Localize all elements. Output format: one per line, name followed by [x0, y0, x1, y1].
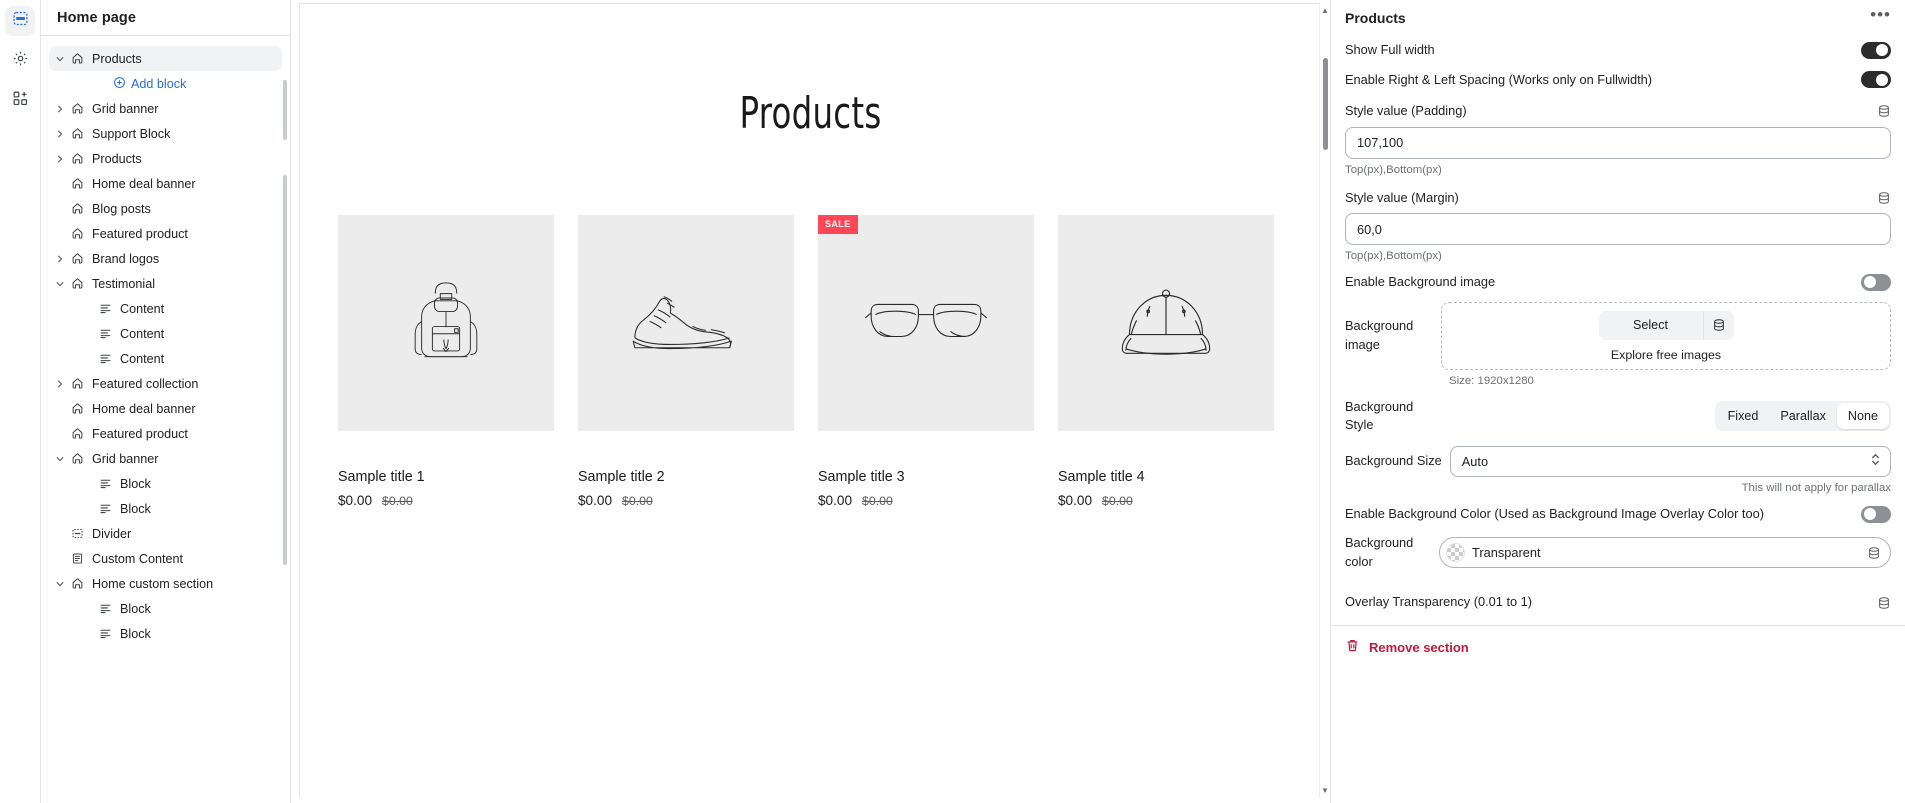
section-icon — [68, 52, 86, 65]
background-size-select[interactable]: Auto — [1450, 446, 1891, 477]
section-icon — [68, 452, 86, 465]
product-price: $0.00 — [338, 493, 372, 508]
sidebar-item-home-deal-banner[interactable]: Home deal banner — [49, 171, 282, 196]
background-style-option-parallax[interactable]: Parallax — [1769, 403, 1837, 429]
sidebar-item-label: Block — [120, 502, 151, 516]
product-price: $0.00 — [578, 493, 612, 508]
sidebar-item-label: Home deal banner — [92, 177, 196, 191]
chevron-down-icon[interactable] — [52, 51, 68, 67]
background-style-segmented-control[interactable]: FixedParallaxNone — [1715, 401, 1891, 431]
enable-bg-image-toggle[interactable] — [1861, 274, 1891, 291]
inspector-title: Products — [1345, 10, 1406, 26]
clipped-row — [41, 36, 290, 44]
sneaker-illustration — [611, 248, 761, 398]
background-size-row: Background Size Auto — [1345, 446, 1891, 477]
enable-bg-color-label: Enable Background Color (Used as Backgro… — [1345, 505, 1764, 524]
enable-bg-color-row: Enable Background Color (Used as Backgro… — [1345, 505, 1891, 524]
section-icon — [68, 277, 86, 290]
sidebar-item-label: Divider — [92, 527, 131, 541]
padding-label: Style value (Padding) — [1345, 102, 1467, 121]
divider-icon — [68, 527, 86, 540]
enable-bg-image-row: Enable Background image — [1345, 273, 1891, 292]
sidebar-item-label: Block — [120, 477, 151, 491]
block-icon — [96, 477, 114, 490]
background-image-size-hint: Size: 1920x1280 — [1345, 375, 1891, 387]
section-icon — [68, 177, 86, 190]
overlay-transparency-row: Overlay Transparency (0.01 to 1) — [1345, 593, 1891, 612]
sidebar-item-label: Grid banner — [92, 452, 159, 466]
product-compare-price: $0.00 — [1102, 494, 1133, 508]
margin-hint: Top(px),Bottom(px) — [1345, 250, 1891, 262]
settings-gear-icon — [12, 50, 29, 72]
background-style-label: Background Style — [1345, 398, 1431, 435]
sidebar-item-block[interactable]: Block — [49, 621, 282, 646]
show-full-width-toggle[interactable] — [1861, 42, 1891, 59]
sections-icon — [12, 10, 29, 32]
sidebar-item-divider[interactable]: Divider — [49, 521, 282, 546]
background-style-row: Background Style FixedParallaxNone — [1345, 398, 1891, 435]
sidebar-item-label: Content — [120, 327, 164, 341]
right-left-spacing-label: Enable Right & Left Spacing (Works only … — [1345, 71, 1652, 90]
preview-scrollbar-thumb[interactable] — [1323, 58, 1328, 150]
dynamic-source-icon[interactable] — [1867, 546, 1881, 560]
product-card[interactable]: Sample title 4$0.00$0.00 — [1058, 215, 1274, 508]
sidebar-item-label: Custom Content — [92, 552, 183, 566]
preview-section-heading: Products — [392, 88, 1229, 139]
sidebar-item-label: Support Block — [92, 127, 170, 141]
product-compare-price: $0.00 — [862, 494, 893, 508]
remove-section-label: Remove section — [1369, 640, 1469, 655]
sidebar-scrollbar-thumb[interactable] — [283, 175, 287, 565]
scroll-up-arrow[interactable]: ▲ — [1321, 6, 1329, 15]
select-image-button[interactable]: Select — [1599, 311, 1734, 340]
select-image-label: Select — [1599, 318, 1703, 332]
scroll-down-arrow[interactable]: ▼ — [1321, 786, 1329, 795]
padding-input[interactable]: 107,100 — [1345, 127, 1891, 159]
margin-label: Style value (Margin) — [1345, 189, 1459, 208]
add-block-label: Add block — [131, 77, 186, 91]
background-style-option-fixed[interactable]: Fixed — [1717, 403, 1770, 429]
margin-field-header: Style value (Margin) — [1345, 189, 1891, 208]
right-left-spacing-row: Enable Right & Left Spacing (Works only … — [1345, 71, 1891, 90]
sections-tree: ProductsAdd blockGrid bannerSupport Bloc… — [41, 44, 290, 646]
product-title[interactable]: Sample title 1 — [338, 469, 554, 485]
inspector-header: Products ••• — [1345, 0, 1891, 30]
sidebar-item-brand-logos[interactable]: Brand logos — [49, 246, 282, 271]
background-style-option-none[interactable]: None — [1837, 403, 1889, 429]
product-compare-price: $0.00 — [382, 494, 413, 508]
section-icon — [68, 402, 86, 415]
sidebar-item-custom-content[interactable]: Custom Content — [49, 546, 282, 571]
product-card[interactable]: Sample title 2$0.00$0.00 — [578, 215, 794, 508]
section-icon — [68, 377, 86, 390]
sidebar-item-label: Featured collection — [92, 377, 198, 391]
sidebar-item-label: Brand logos — [92, 252, 159, 266]
padding-input-value: 107,100 — [1357, 135, 1403, 150]
preview-area: Products Sample title 1$0.00$0.00Sample … — [291, 0, 1330, 803]
trash-icon — [1345, 638, 1360, 656]
product-grid: Sample title 1$0.00$0.00Sample title 2$0… — [300, 215, 1321, 508]
apps-add-icon — [12, 90, 29, 112]
section-icon — [68, 152, 86, 165]
sidebar-item-grid-banner[interactable]: Grid banner — [49, 446, 282, 471]
sidebar-item-label: Featured product — [92, 227, 188, 241]
theme-editor: Home page ProductsAdd blockGrid bannerSu… — [0, 0, 1905, 803]
sidebar-item-label: Home custom section — [92, 577, 213, 591]
add-block-button[interactable]: Add block — [113, 71, 290, 96]
overlay-transparency-label: Overlay Transparency (0.01 to 1) — [1345, 593, 1532, 612]
sidebar-item-featured-product[interactable]: Featured product — [49, 221, 282, 246]
background-image-label: Background image — [1345, 317, 1431, 354]
settings-gear-icon-button[interactable] — [5, 46, 35, 76]
sidebar-item-content[interactable]: Content — [49, 321, 282, 346]
sidebar-item-label: Products — [92, 52, 142, 66]
padding-field-header: Style value (Padding) — [1345, 102, 1891, 121]
chevron-right-icon[interactable] — [52, 251, 68, 267]
chevron-right-icon[interactable] — [52, 376, 68, 392]
sidebar-item-testimonial[interactable]: Testimonial — [49, 271, 282, 296]
section-icon — [68, 252, 86, 265]
sidebar-item-block[interactable]: Block — [49, 596, 282, 621]
sidebar-item-label: Block — [120, 627, 151, 641]
sidebar-item-blog-posts[interactable]: Blog posts — [49, 196, 282, 221]
transparent-swatch-icon — [1446, 543, 1465, 562]
dynamic-source-icon[interactable] — [1704, 318, 1734, 332]
remove-section-button[interactable]: Remove section — [1345, 638, 1891, 656]
product-price: $0.00 — [1058, 493, 1092, 508]
sidebar-item-products[interactable]: Products — [49, 146, 282, 171]
glasses-illustration — [851, 248, 1001, 398]
sections-icon-button[interactable] — [5, 6, 35, 36]
section-icon — [68, 127, 86, 140]
divider — [1331, 625, 1905, 626]
chevron-updown-icon — [1870, 452, 1881, 470]
sidebar-item-products[interactable]: Products — [49, 46, 282, 71]
sidebar-item-label: Content — [120, 352, 164, 366]
product-title[interactable]: Sample title 2 — [578, 469, 794, 485]
sidebar-item-featured-collection[interactable]: Featured collection — [49, 371, 282, 396]
product-price: $0.00 — [818, 493, 852, 508]
left-icon-rail — [0, 0, 41, 803]
margin-input[interactable]: 60,0 — [1345, 213, 1891, 245]
dynamic-source-icon[interactable] — [1877, 596, 1891, 610]
custom-content-icon — [68, 552, 86, 565]
enable-bg-color-toggle[interactable] — [1861, 506, 1891, 523]
product-price-row: $0.00$0.00 — [1058, 493, 1274, 508]
sidebar-header: Home page — [41, 0, 290, 36]
block-icon — [96, 502, 114, 515]
background-image-dropzone[interactable]: Select Explore free images — [1441, 302, 1891, 370]
chevron-right-icon[interactable] — [52, 101, 68, 117]
product-title[interactable]: Sample title 3 — [818, 469, 1034, 485]
product-image[interactable] — [578, 215, 794, 431]
enable-bg-image-label: Enable Background image — [1345, 273, 1495, 292]
show-full-width-label: Show Full width — [1345, 41, 1435, 60]
sidebar-item-label: Products — [92, 152, 142, 166]
product-card[interactable]: Sample title 1$0.00$0.00 — [338, 215, 554, 508]
sidebar-scrollbar-top[interactable] — [283, 80, 287, 140]
backpack-illustration — [371, 248, 521, 398]
sidebar-item-label: Content — [120, 302, 164, 316]
chevron-down-icon[interactable] — [52, 576, 68, 592]
background-color-value: Transparent — [1472, 545, 1860, 560]
dynamic-source-icon[interactable] — [1877, 191, 1891, 205]
dynamic-source-icon[interactable] — [1877, 104, 1891, 118]
page-title: Home page — [57, 10, 136, 26]
block-icon — [96, 302, 114, 315]
sidebar-item-block[interactable]: Block — [49, 496, 282, 521]
explore-free-images-link[interactable]: Explore free images — [1611, 348, 1721, 362]
background-color-row: Background color Transparent — [1345, 534, 1891, 571]
product-compare-price: $0.00 — [622, 494, 653, 508]
chevron-right-icon[interactable] — [52, 151, 68, 167]
background-size-label: Background Size — [1345, 452, 1442, 471]
background-size-value: Auto — [1462, 454, 1488, 469]
background-image-row: Background image Select Explore free ima… — [1345, 302, 1891, 370]
product-price-row: $0.00$0.00 — [338, 493, 554, 508]
chevron-down-icon[interactable] — [52, 276, 68, 292]
product-title[interactable]: Sample title 4 — [1058, 469, 1274, 485]
sidebar-item-grid-banner[interactable]: Grid banner — [49, 96, 282, 121]
chevron-down-icon[interactable] — [52, 451, 68, 467]
background-color-picker[interactable]: Transparent — [1439, 537, 1891, 568]
block-icon — [96, 627, 114, 640]
sidebar-item-block[interactable]: Block — [49, 471, 282, 496]
cap-illustration — [1091, 248, 1241, 398]
product-price-row: $0.00$0.00 — [578, 493, 794, 508]
sale-badge: SALE — [818, 215, 858, 234]
product-card[interactable]: SALESample title 3$0.00$0.00 — [818, 215, 1034, 508]
section-icon — [68, 577, 86, 590]
margin-input-value: 60,0 — [1357, 222, 1382, 237]
apps-add-icon-button[interactable] — [5, 86, 35, 116]
block-icon — [96, 352, 114, 365]
product-image[interactable] — [1058, 215, 1274, 431]
section-icon — [68, 427, 86, 440]
sidebar-item-label: Blog posts — [92, 202, 151, 216]
section-settings-panel: Products ••• Show Full width Enable Righ… — [1330, 0, 1905, 803]
sidebar-item-home-custom-section[interactable]: Home custom section — [49, 571, 282, 596]
sidebar-item-label: Testimonial — [92, 277, 155, 291]
background-color-label: Background color — [1345, 534, 1431, 571]
preview-scrollbar[interactable]: ▲ ▼ — [1319, 3, 1330, 798]
sidebar-item-home-deal-banner[interactable]: Home deal banner — [49, 396, 282, 421]
right-left-spacing-toggle[interactable] — [1861, 71, 1891, 88]
sidebar-item-label: Home deal banner — [92, 402, 196, 416]
block-icon — [96, 327, 114, 340]
section-icon — [68, 202, 86, 215]
sidebar-item-content[interactable]: Content — [49, 296, 282, 321]
sidebar-item-featured-product[interactable]: Featured product — [49, 421, 282, 446]
section-icon — [68, 102, 86, 115]
padding-hint: Top(px),Bottom(px) — [1345, 164, 1891, 176]
sidebar-item-content[interactable]: Content — [49, 346, 282, 371]
product-image[interactable] — [338, 215, 554, 431]
background-size-hint: This will not apply for parallax — [1345, 482, 1891, 494]
block-icon — [96, 602, 114, 615]
product-price-row: $0.00$0.00 — [818, 493, 1034, 508]
chevron-right-icon[interactable] — [52, 126, 68, 142]
show-full-width-row: Show Full width — [1345, 41, 1891, 60]
sections-sidebar: Home page ProductsAdd blockGrid bannerSu… — [41, 0, 291, 803]
product-image[interactable]: SALE — [818, 215, 1034, 431]
sidebar-item-label: Grid banner — [92, 102, 159, 116]
plus-circle-icon — [113, 76, 126, 92]
sidebar-item-support-block[interactable]: Support Block — [49, 121, 282, 146]
sidebar-item-label: Featured product — [92, 427, 188, 441]
section-icon — [68, 227, 86, 240]
sidebar-item-label: Block — [120, 602, 151, 616]
storefront-preview: Products Sample title 1$0.00$0.00Sample … — [299, 3, 1322, 798]
more-options-icon[interactable]: ••• — [1870, 10, 1891, 26]
